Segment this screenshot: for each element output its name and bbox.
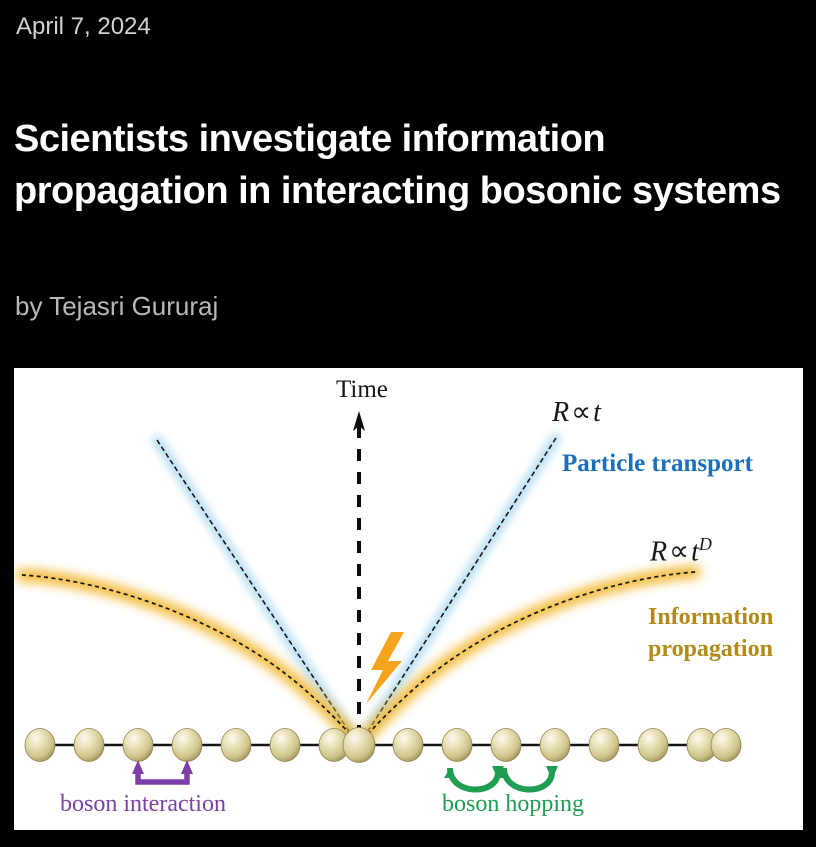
boson-interaction-arrows-icon (132, 760, 193, 782)
boson-hopping-label: boson hopping (442, 791, 584, 818)
particle-scaling-law-label: R∝t (552, 395, 601, 429)
boson-interaction-label: boson interaction (60, 791, 226, 818)
time-axis (353, 411, 365, 746)
page-title: Scientists investigate information propa… (14, 113, 804, 217)
publication-date: April 7, 2024 (16, 13, 151, 41)
info-law-exponent: D (699, 534, 712, 554)
boson-lattice (25, 728, 741, 763)
particle-law-t: t (593, 397, 601, 428)
info-law-R: R (650, 536, 667, 567)
info-law-t: t (691, 536, 699, 567)
article-container: April 7, 2024 Scientists investigate inf… (0, 0, 816, 847)
particle-transport-cone (157, 438, 556, 745)
article-byline: by Tejasri Gururaj (15, 291, 218, 322)
figure-image: Time R∝t Particle transport R∝tD Informa… (14, 368, 803, 830)
particle-law-R: R (552, 397, 569, 428)
lightning-bolt-icon (366, 632, 404, 704)
figure-diagram (14, 368, 803, 830)
particle-law-proportional: ∝ (569, 397, 593, 428)
information-scaling-law-label: R∝tD (650, 534, 712, 568)
information-propagation-label: Information propagation (648, 601, 803, 665)
info-law-proportional: ∝ (667, 536, 691, 567)
boson-hopping-arrows-icon (444, 766, 558, 790)
time-axis-label: Time (336, 376, 388, 404)
particle-transport-label: Particle transport (562, 450, 753, 478)
